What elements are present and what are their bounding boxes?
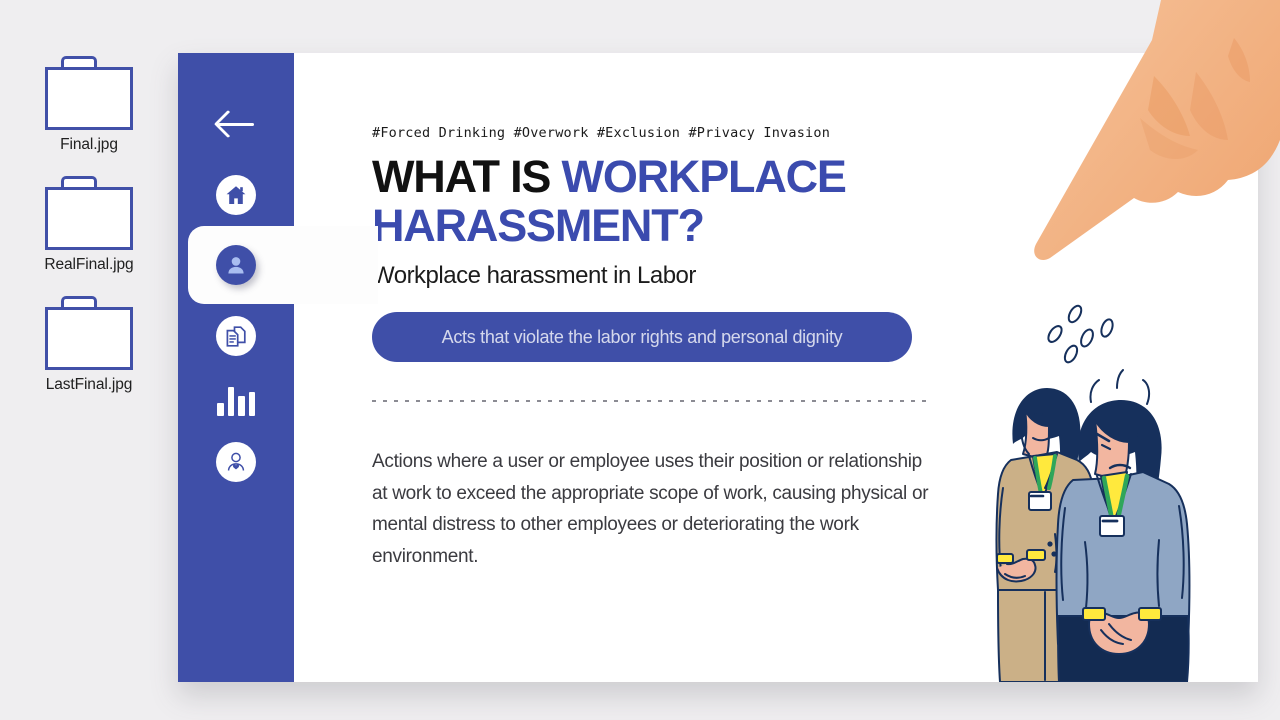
definition-banner[interactable]: Acts that violate the labor rights and p… — [372, 312, 912, 362]
desktop-file-label: LastFinal.jpg — [46, 376, 133, 394]
folder-icon — [45, 56, 133, 130]
body-paragraph: Actions where a user or employee uses th… — [372, 446, 932, 572]
app-window: #Forced Drinking #Overwork #Exclusion #P… — [178, 53, 1258, 682]
folder-icon — [45, 296, 133, 370]
folder-icon — [45, 176, 133, 250]
person-icon — [216, 245, 256, 285]
page-subtitle: Workplace harassment in Labor — [372, 262, 1258, 290]
bar-chart-icon — [217, 382, 255, 416]
sidebar — [178, 53, 294, 682]
page-title: WHAT IS WORKPLACE HARASSMENT? — [372, 153, 892, 250]
person-heart-icon — [216, 442, 256, 482]
headline-lead: WHAT IS — [372, 151, 562, 202]
sidebar-item-statistics[interactable] — [178, 367, 294, 430]
desktop-file-list: Final.jpg RealFinal.jpg LastFinal.jpg — [0, 56, 178, 394]
documents-icon — [216, 316, 256, 356]
section-divider — [372, 400, 930, 402]
desktop-file-realfinal[interactable]: RealFinal.jpg — [14, 176, 164, 274]
desktop-file-final[interactable]: Final.jpg — [14, 56, 164, 154]
desktop-file-label: Final.jpg — [60, 136, 118, 154]
sidebar-item-support[interactable] — [178, 430, 294, 493]
desktop-file-lastfinal[interactable]: LastFinal.jpg — [14, 296, 164, 394]
sidebar-item-home[interactable] — [178, 163, 294, 226]
desktop-file-label: RealFinal.jpg — [44, 256, 133, 274]
back-button[interactable] — [178, 85, 294, 163]
sidebar-item-profile[interactable] — [178, 226, 294, 304]
home-icon — [216, 175, 256, 215]
arrow-left-icon — [216, 108, 256, 140]
sidebar-item-documents[interactable] — [178, 304, 294, 367]
main-content: #Forced Drinking #Overwork #Exclusion #P… — [294, 53, 1258, 682]
two-distressed-office-workers-illustration — [967, 292, 1212, 682]
hashtag-line: #Forced Drinking #Overwork #Exclusion #P… — [372, 125, 1258, 141]
